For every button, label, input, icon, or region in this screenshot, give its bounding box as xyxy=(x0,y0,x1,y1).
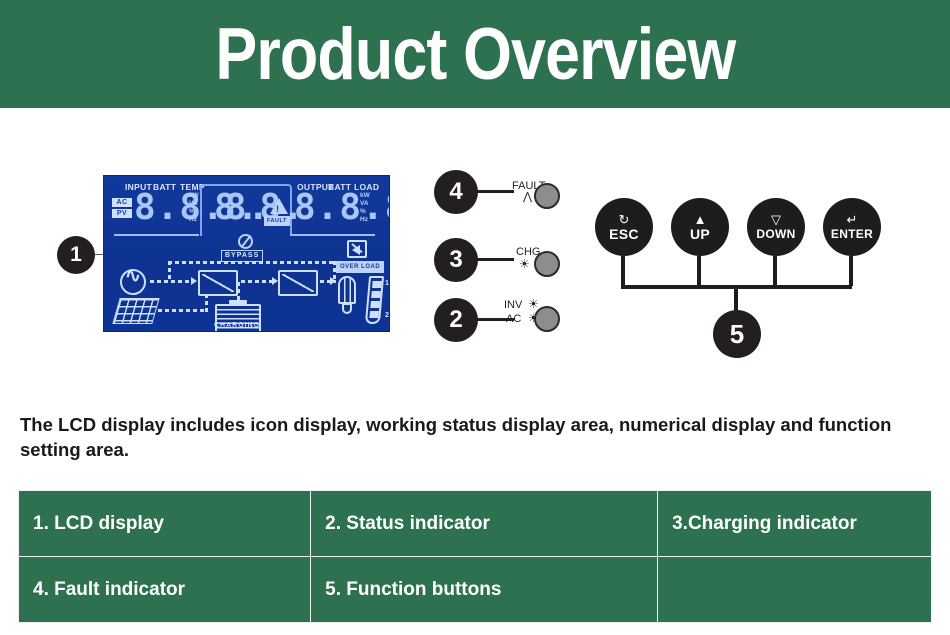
up-button-label: UP xyxy=(690,227,710,242)
level-seg-2 xyxy=(371,291,381,298)
bypass-prohibit-icon xyxy=(238,234,253,249)
legend-cell-2: 2. Status indicator xyxy=(311,491,658,557)
enter-button[interactable]: ↵ ENTER xyxy=(823,198,881,256)
flow-rect-up xyxy=(205,294,208,312)
button-bracket-up xyxy=(697,256,701,286)
page-header: Product Overview xyxy=(0,0,950,108)
down-button[interactable]: ▽ DOWN xyxy=(747,198,805,256)
bulb-tube xyxy=(338,276,356,304)
warning-triangle-icon-fault: ⋀ xyxy=(523,192,532,203)
lcd-source-badges: AC PV xyxy=(112,198,132,220)
bulb-base xyxy=(342,303,352,314)
flow-bypass-top xyxy=(168,261,334,264)
lcd-units-right: kW VA % Hz xyxy=(360,192,370,224)
lcd-digits-center: 8.8. xyxy=(214,190,305,226)
lcd-digits-right: 8.8.8. xyxy=(294,190,390,226)
lcd-unit-right-pct: % xyxy=(360,208,370,216)
warning-exclamation: ! xyxy=(276,204,279,214)
flow-rect-to-inv xyxy=(241,280,273,283)
lcd-units-left: kW VA % Hz xyxy=(189,192,199,224)
table-row: 4. Fault indicator 5. Function buttons xyxy=(19,557,932,623)
esc-button[interactable]: ↻ ESC xyxy=(595,198,653,256)
callout-3-charging[interactable]: 3 xyxy=(434,238,478,282)
up-button[interactable]: ▲ UP xyxy=(671,198,729,256)
enter-return-icon: ↵ xyxy=(847,213,858,227)
callout-4-leader-line xyxy=(476,190,514,193)
lcd-load-bulb-icon xyxy=(336,276,358,316)
lcd-badge-pv: PV xyxy=(112,209,132,218)
esc-button-label: ESC xyxy=(609,227,639,242)
indicator-label-ac: AC xyxy=(506,313,521,325)
lcd-label-charging: CHARGING xyxy=(214,322,260,329)
level-seg-4 xyxy=(369,311,379,318)
flow-to-batt xyxy=(237,282,240,302)
flow-arrow-batt xyxy=(234,300,242,306)
flow-ac-to-rect xyxy=(150,280,192,283)
table-row: 1. LCD display 2. Status indicator 3.Cha… xyxy=(19,491,932,557)
status-led[interactable] xyxy=(534,306,560,332)
product-overview-diagram: 1. LCD display1 INPUT BATT TEMP OUTPUT B… xyxy=(0,108,950,408)
flow-bypass-right xyxy=(333,261,336,281)
lcd-description-text: The LCD display includes icon display, w… xyxy=(20,412,930,462)
legend-cell-6 xyxy=(658,557,932,623)
charging-led[interactable] xyxy=(534,251,560,277)
warning-triangle-icon: ! xyxy=(270,198,288,214)
button-bracket-down xyxy=(773,256,777,286)
lcd-unit-right-va: VA xyxy=(360,200,370,208)
callout-2-status[interactable]: 2 xyxy=(434,298,478,342)
lcd-battery-level-icon xyxy=(365,276,384,324)
undo-circle-icon: ↻ xyxy=(619,213,630,227)
button-bracket-esc xyxy=(621,256,625,286)
lcd-unit-left-hz: Hz xyxy=(189,216,199,224)
legend-cell-1: 1. LCD display xyxy=(19,491,311,557)
lcd-level-low: 25% xyxy=(385,312,390,319)
sun-icon-chg: ☀ xyxy=(519,258,530,270)
lcd-solar-panel-icon xyxy=(112,298,159,324)
callout-4-fault[interactable]: 4 xyxy=(434,170,478,214)
flow-bypass-left xyxy=(168,261,171,281)
flow-pv-to-rect xyxy=(158,309,206,312)
lcd-rectifier-icon xyxy=(198,270,238,296)
fault-led[interactable] xyxy=(534,183,560,209)
button-bracket-enter xyxy=(849,256,853,286)
lcd-display[interactable]: INPUT BATT TEMP OUTPUT BATT LOAD AC PV 8… xyxy=(103,175,390,332)
lcd-inverter-icon xyxy=(278,270,318,296)
lcd-unit-left-kw: kW xyxy=(189,192,199,200)
flow-arrow-1 xyxy=(191,277,197,285)
lcd-badge-fault: FAULT xyxy=(264,216,290,226)
lcd-separator-left xyxy=(114,234,199,236)
lcd-badge-ac: AC xyxy=(112,198,132,207)
level-seg-1 xyxy=(372,281,382,288)
mute-speaker-icon xyxy=(347,240,367,258)
lcd-ac-source-icon xyxy=(120,269,146,295)
legend-cell-4: 4. Fault indicator xyxy=(19,557,311,623)
callout-1-lcd[interactable]: 1. LCD display1 xyxy=(57,236,95,274)
triangle-down-outline-icon: ▽ xyxy=(771,213,781,227)
callout-3-leader-line xyxy=(476,258,514,261)
triangle-up-filled-icon: ▲ xyxy=(694,213,707,227)
legend-cell-3: 3.Charging indicator xyxy=(658,491,932,557)
button-bracket-stem xyxy=(734,285,738,313)
flow-arrow-2 xyxy=(272,277,278,285)
legend-cell-5: 5. Function buttons xyxy=(311,557,658,623)
lcd-separator-right xyxy=(290,234,375,236)
lcd-unit-left-va: VA xyxy=(189,200,199,208)
sun-icon-inv: ☀ xyxy=(528,298,539,310)
indicator-label-inv: INV xyxy=(504,299,522,311)
level-seg-3 xyxy=(370,301,380,308)
legend-table: 1. LCD display 2. Status indicator 3.Cha… xyxy=(18,490,932,623)
lcd-unit-right-hz: Hz xyxy=(360,216,370,224)
lcd-badge-overload: OVER LOAD xyxy=(336,261,384,273)
down-button-label: DOWN xyxy=(756,227,795,242)
enter-button-label: ENTER xyxy=(831,227,873,242)
callout-5-buttons[interactable]: 5 xyxy=(713,310,761,358)
lcd-unit-left-pct: % xyxy=(189,208,199,216)
page-title: Product Overview xyxy=(215,18,735,91)
lcd-level-high: 100% xyxy=(385,280,390,287)
lcd-unit-right-kw: kW xyxy=(360,192,370,200)
